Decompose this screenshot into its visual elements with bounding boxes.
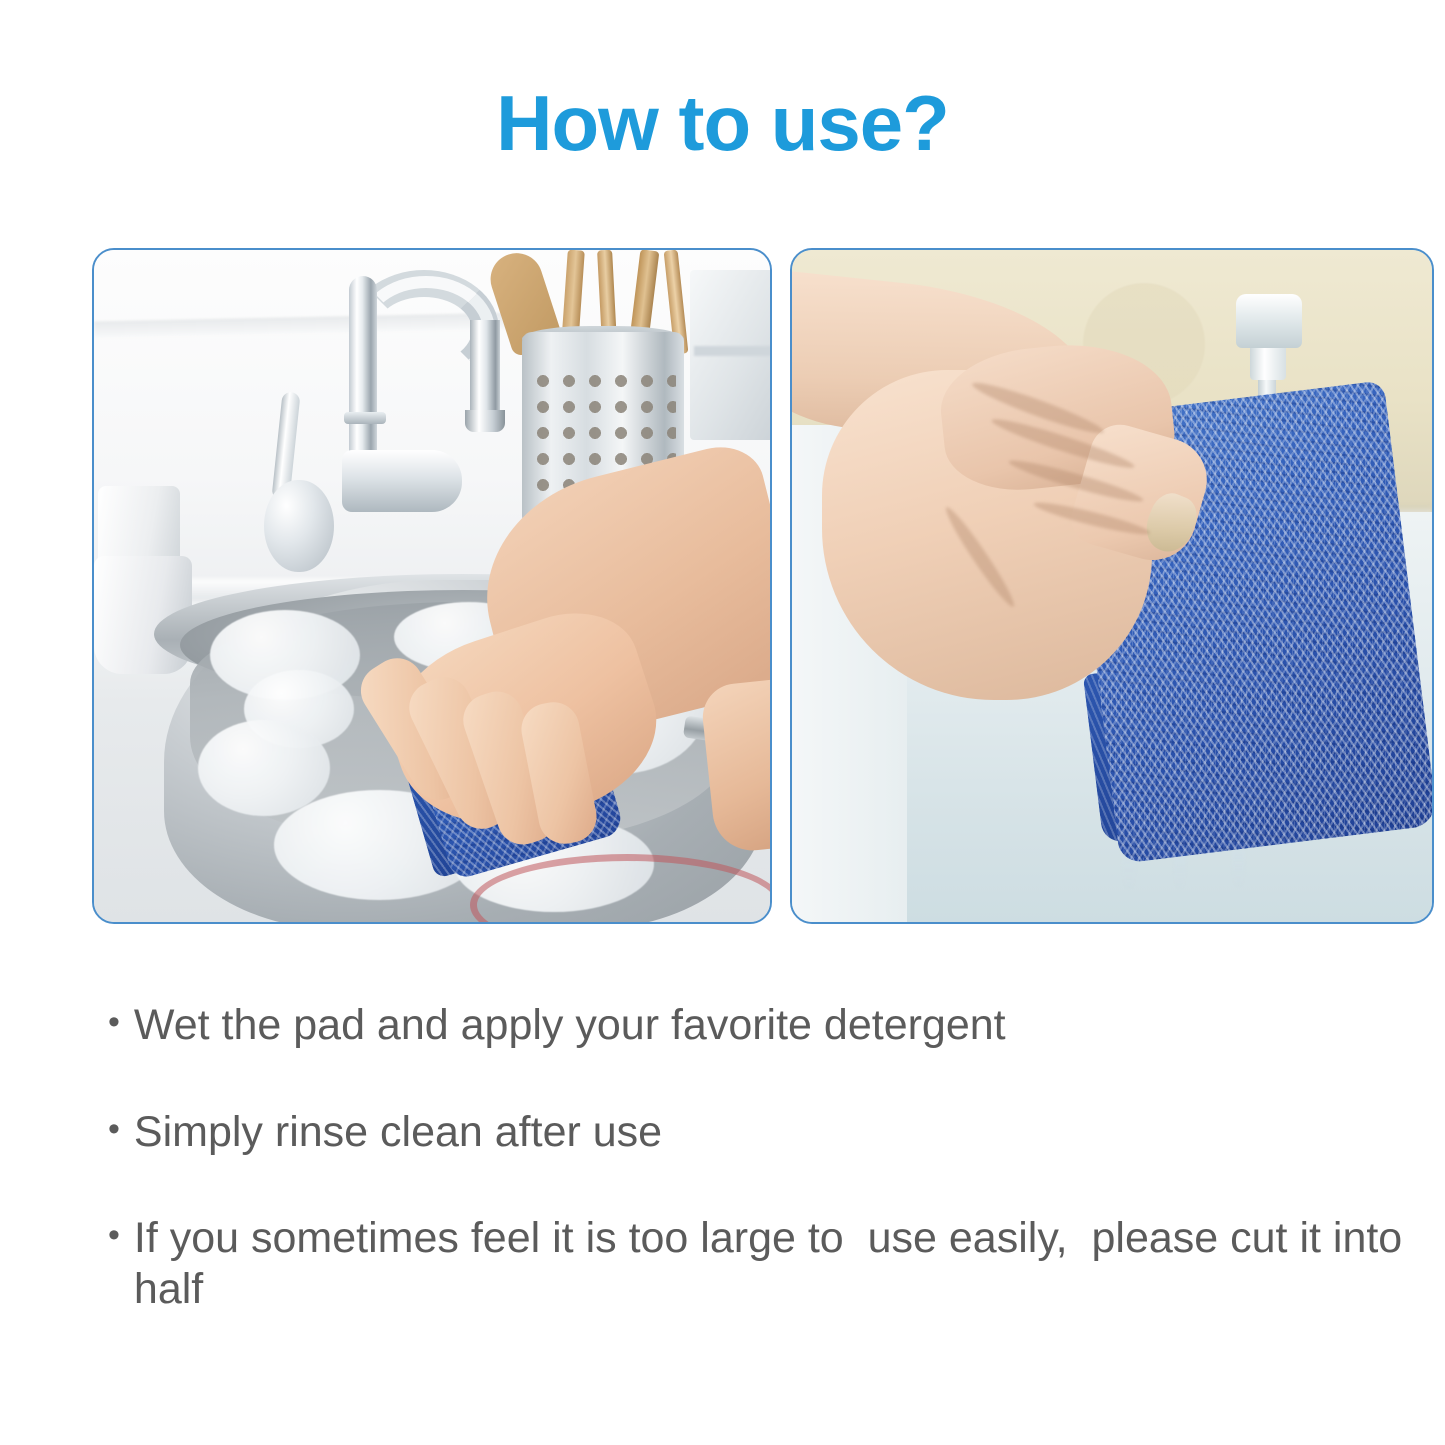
faucet-downspout [470,320,500,418]
instruction-item-2: • Simply rinse clean after use [108,1107,1408,1158]
bullet-dot-icon: • [108,1107,120,1153]
faucet-spout-column [349,276,377,466]
instruction-text: Simply rinse clean after use [134,1107,1408,1158]
faucet-collar [344,412,386,424]
how-to-use-photo-washing-pot [92,248,772,924]
page-title: How to use? [0,84,1445,162]
how-to-use-photo-holding-pad [790,248,1434,924]
instruction-item-1: • Wet the pad and apply your favorite de… [108,1000,1408,1051]
background-box-line [694,346,772,356]
soap-suds [198,720,330,816]
faucet-knob-icon [1236,294,1302,348]
faucet-aerator [465,410,505,432]
faucet-body [342,450,462,512]
instruction-item-3: • If you sometimes feel it is too large … [108,1213,1408,1314]
instructions-list: • Wet the pad and apply your favorite de… [108,1000,1408,1371]
bullet-dot-icon: • [108,1213,120,1259]
instruction-text: If you sometimes feel it is too large to… [134,1213,1408,1314]
bullet-dot-icon: • [108,1000,120,1046]
instruction-text: Wet the pad and apply your favorite dete… [134,1000,1408,1051]
faucet-base [264,480,334,572]
